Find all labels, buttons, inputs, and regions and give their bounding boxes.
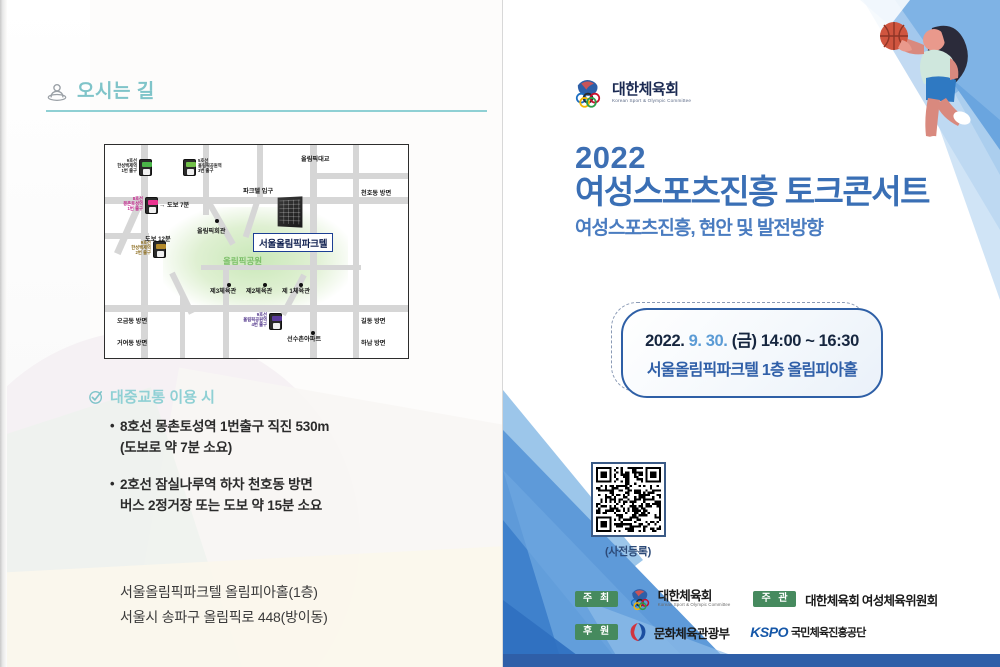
map-pin-person-icon	[46, 80, 68, 102]
road	[310, 173, 409, 179]
address-line-1: 서울올림픽파크텔 올림피아홀(1층)	[120, 580, 328, 605]
transit-line: (도보로 약 7분 소요)	[110, 438, 468, 459]
date-prefix: 2022.	[645, 332, 684, 350]
partner-name: 대한체육회	[658, 590, 731, 604]
subway-station-label: 9호선한성백제역1번 출구	[111, 159, 137, 174]
map-label: 하남 방면	[361, 341, 386, 348]
road	[105, 305, 409, 312]
left-panel-directions: 오시는 길	[0, 0, 503, 667]
footer-accent-bar	[503, 654, 1000, 667]
subway-station-marker	[139, 159, 152, 176]
logo-name-kr: 대한체육회	[612, 82, 691, 98]
logo-text: 대한체육회 Korean Sport & Olympic Committee	[612, 82, 691, 105]
female-basketball-player-illustration	[840, 0, 1000, 150]
kspo-logo: KSPO 국민체육진흥공단	[750, 624, 865, 640]
map-canvas: 9호선한성백제역1번 출구 5호선올림픽공원역3번 출구 8호선몽촌토성역1번 …	[105, 145, 408, 358]
partner-name-stack: 대한체육회 Korean Sport & Olympic Committee	[658, 590, 731, 609]
event-venue: 서울올림픽파크텔 1층 올림피아홀	[647, 356, 857, 380]
partner-name: 국민체육진흥공단	[791, 624, 866, 640]
subway-station-marker	[145, 197, 158, 214]
venue-callout: 서울올림픽파크텔	[253, 233, 333, 252]
transit-item: 8호선 몽촌토성역 1번출구 직진 530m (도보로 약 7분 소요)	[110, 417, 468, 459]
map-label: 길동 방면	[361, 319, 386, 326]
map-label: 도보 7분	[167, 203, 189, 210]
date-suffix: (금) 14:00 ~ 16:30	[732, 332, 859, 350]
korean-sport-olympic-committee-logo	[627, 586, 653, 612]
park-name-label: 올림픽공원	[223, 255, 262, 267]
transit-heading: 대중교통 이용 시	[88, 386, 468, 407]
walk-arrow: →	[159, 203, 165, 210]
transit-item: 2호선 잠실나루역 하차 천호동 방면 버스 2정거장 또는 도보 약 15분 …	[110, 475, 468, 517]
map-label: 올림픽회관	[197, 229, 225, 236]
registration-qr-block[interactable]: (사전등록)	[578, 462, 678, 559]
page-spine-edge	[0, 0, 7, 667]
subway-station-label: 5호선올림픽공원역3번 출구	[198, 159, 222, 174]
subway-station-marker	[269, 313, 282, 330]
road	[223, 265, 229, 359]
map-poi-dot	[227, 283, 231, 287]
event-poster: 오시는 길	[0, 0, 1000, 667]
logo-name-en: Korean Sport & Olympic Committee	[612, 99, 691, 104]
ministry-of-culture-sports-tourism-logo	[627, 621, 649, 643]
map-label: 도보 12분	[145, 237, 171, 244]
transit-line: 2호선 잠실나루역 하차 천호동 방면	[110, 475, 468, 496]
info-box-solid: 2022. 9. 30. (금) 14:00 ~ 16:30 서울올림픽파크텔 …	[621, 308, 883, 398]
right-panel-event: 대한체육회 Korean Sport & Olympic Committee 2…	[503, 0, 1000, 667]
map-label: 제3체육관	[210, 289, 236, 296]
event-subtitle: 여성스포츠진흥, 현안 및 발전방향	[575, 217, 975, 242]
qr-code-canvas	[596, 467, 661, 532]
subway-station-marker	[183, 159, 196, 176]
subway-station-label: 9호선올림픽공원역4번 출구	[237, 313, 267, 328]
page-title: 오시는 길	[77, 82, 155, 101]
check-circle-icon	[88, 389, 104, 405]
partner-name-en: Korean Sport & Olympic Committee	[658, 603, 731, 608]
address-line-2: 서울시 송파구 올림픽로 448(방이동)	[120, 605, 328, 630]
venue-address: 서울올림픽파크텔 올림피아홀(1층) 서울시 송파구 올림픽로 448(방이동)	[120, 580, 328, 629]
map-poi-dot	[299, 283, 303, 287]
event-year: 2022	[575, 142, 975, 175]
map-poi-dot	[215, 219, 219, 223]
partner-row: 후 원 문화체육관광부 KSPO 국민체육진흥공단	[575, 621, 975, 643]
partners-footer: 주 최	[575, 586, 975, 652]
partner-entity: 문화체육관광부	[627, 621, 730, 643]
date-highlight: 9. 30.	[689, 332, 728, 350]
korean-sport-olympic-committee-logo: 대한체육회 Korean Sport & Olympic Committee	[571, 76, 691, 110]
venue-building-icon	[278, 196, 303, 227]
transit-heading-label: 대중교통 이용 시	[110, 386, 215, 407]
event-title: 여성스포츠진흥 토크콘서트	[575, 173, 975, 212]
map-label: 오금동 방면	[117, 319, 147, 326]
map-label: 올림픽대교	[301, 157, 329, 164]
olympic-rings-icon	[571, 76, 605, 110]
directions-header: 오시는 길	[46, 80, 486, 102]
qr-code-icon[interactable]	[591, 462, 666, 537]
partner-tag-host: 주 최	[575, 591, 618, 607]
partner-row: 주 최	[575, 586, 975, 612]
transit-line: 8호선 몽촌토성역 1번출구 직진 530m	[110, 417, 468, 438]
partner-entity: 대한체육회 Korean Sport & Olympic Committee	[627, 586, 731, 612]
map-label: 선수촌아파트	[287, 337, 321, 344]
map-poi-dot	[311, 331, 315, 335]
map-poi-dot	[263, 283, 267, 287]
event-title-block: 2022 여성스포츠진흥 토크콘서트 여성스포츠진흥, 현안 및 발전방향	[575, 142, 975, 242]
partner-name: 대한체육회 여성체육위원회	[805, 590, 937, 609]
location-map[interactable]: 9호선한성백제역1번 출구 5호선올림픽공원역3번 출구 8호선몽촌토성역1번 …	[104, 144, 409, 359]
map-label: 천호동 방면	[361, 191, 391, 198]
event-date-time: 2022. 9. 30. (금) 14:00 ~ 16:30	[645, 327, 859, 351]
event-datetime-box: 2022. 9. 30. (금) 14:00 ~ 16:30 서울올림픽파크텔 …	[611, 302, 889, 398]
map-label: 제2체육관	[246, 289, 272, 296]
transit-line: 버스 2정거장 또는 도보 약 15분 소요	[110, 496, 468, 517]
map-label: 파크텔 입구	[243, 189, 273, 196]
kspo-wordmark: KSPO	[750, 624, 788, 640]
map-label: 제 1체육관	[282, 289, 310, 296]
subway-station-label: 8호선몽촌토성역1번 출구	[113, 197, 143, 212]
public-transit-section: 대중교통 이용 시 8호선 몽촌토성역 1번출구 직진 530m (도보로 약 …	[88, 386, 468, 533]
partner-tag-organizer: 주 관	[753, 591, 796, 607]
map-label: 거여동 방면	[117, 341, 147, 348]
partner-name: 문화체육관광부	[654, 623, 730, 642]
header-divider	[46, 110, 487, 112]
partner-tag-sponsor: 후 원	[575, 624, 618, 640]
qr-caption: (사전등록)	[578, 543, 678, 559]
